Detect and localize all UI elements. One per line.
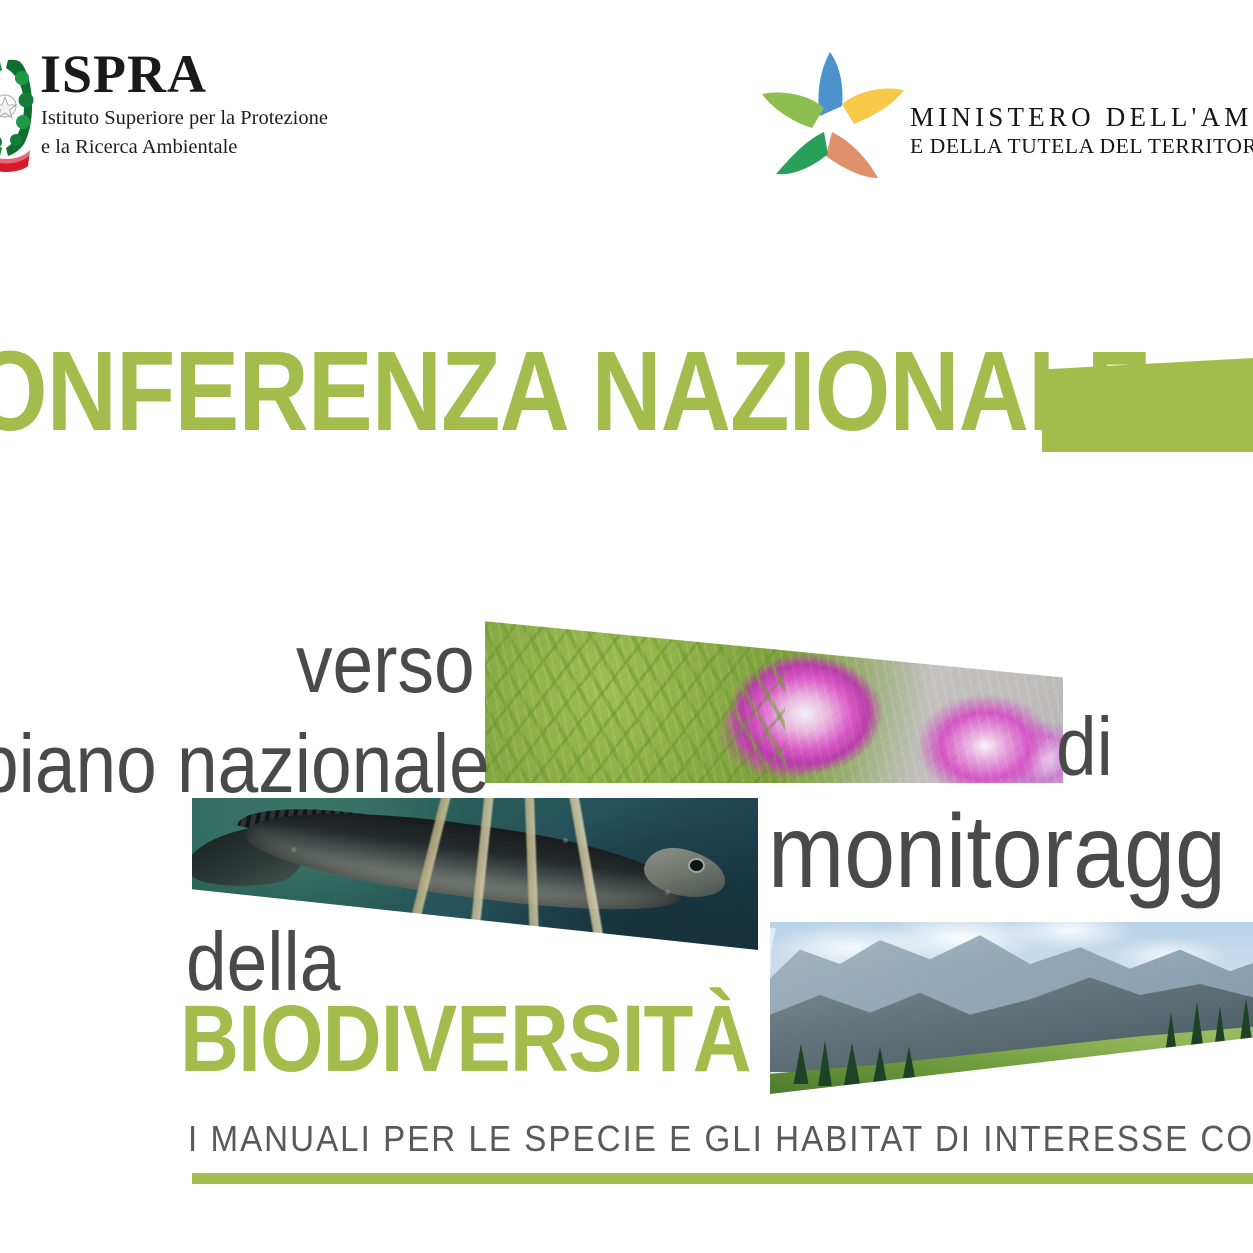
poster-header: ISPRA Istituto Superiore per la Protezio… [0,0,1253,200]
ispra-logo-block: ISPRA Istituto Superiore per la Protezio… [0,46,398,176]
subtitle-monitoraggio: monitoragg [768,800,1226,904]
ministry-logo-block: MINISTERO DELL'AMB E DELLA TUTELA DEL TE… [758,46,1253,186]
italian-republic-emblem-icon [0,50,34,174]
pinwheel-star-logo-icon [758,46,908,186]
footer-tagline: I MANUALI PER LE SPECIE E GLI HABITAT DI… [188,1118,1253,1160]
subtitle-composition: verso piano nazionale di monitoragg dell… [0,560,1253,1120]
page-title: ONFERENZA NAZIONALE [0,332,1151,450]
subtitle-piano-nazionale: piano nazionale [0,722,490,805]
ispra-subtitle-line1: Istituto Superiore per la Protezione [41,106,390,131]
subtitle-biodiversita: BIODIVERSITÀ [180,992,751,1087]
poster-footer: I MANUALI PER LE SPECIE E GLI HABITAT DI… [0,1118,1253,1198]
ispra-acronym: ISPRA [40,46,390,102]
pink-thistle-flower-photo [485,618,1063,783]
subtitle-verso: verso [296,622,475,705]
alpine-mountain-meadow-photo [770,922,1253,1094]
ministry-wordmark: MINISTERO DELL'AMB E DELLA TUTELA DEL TE… [910,102,1253,159]
footer-green-bar [192,1173,1253,1184]
ispra-wordmark: ISPRA Istituto Superiore per la Protezio… [40,46,390,160]
title-green-wedge [1042,356,1253,452]
ispra-subtitle-line2: e la Ricerca Ambientale [41,135,390,160]
ministry-line2: E DELLA TUTELA DEL TERRITORIO E I [910,134,1253,159]
conference-poster: ISPRA Istituto Superiore per la Protezio… [0,0,1253,1253]
subtitle-di: di [1056,705,1113,788]
ministry-line1: MINISTERO DELL'AMB [910,102,1253,133]
